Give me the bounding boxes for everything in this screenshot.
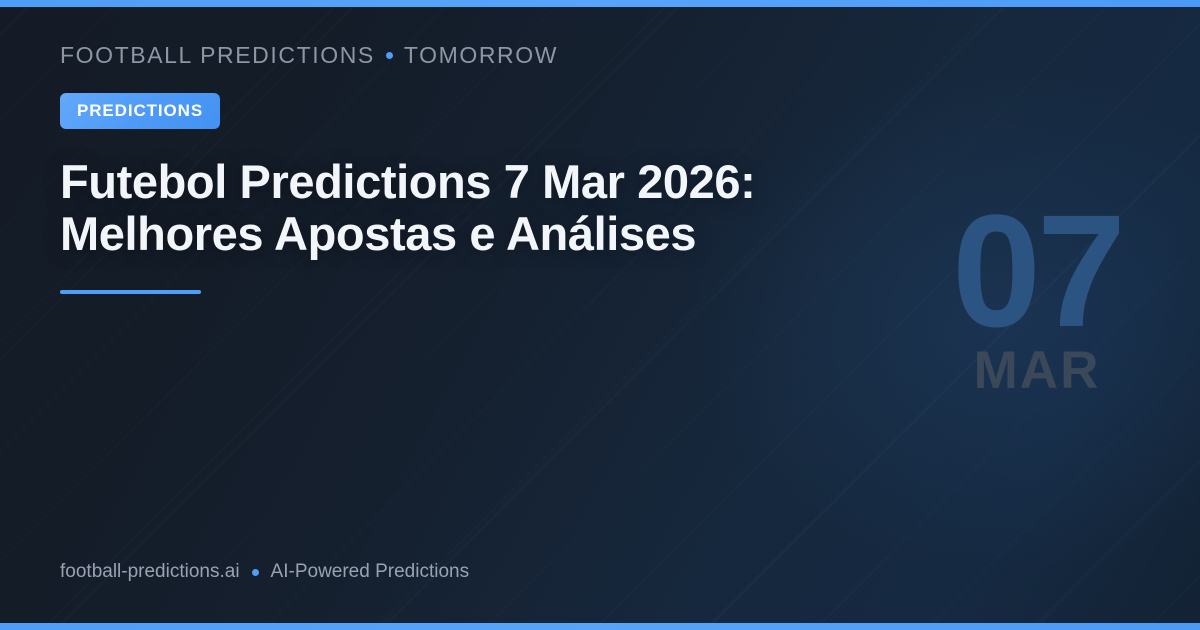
page-title-line-1: Futebol Predictions 7 Mar 2026: (60, 156, 920, 208)
og-share-card: 07 MAR FOOTBALL PREDICTIONS TOMORROW PRE… (0, 0, 1200, 630)
page-title-line-2: Melhores Apostas e Análises (60, 208, 920, 260)
bottom-accent-bar (0, 623, 1200, 630)
status-badge: PREDICTIONS (60, 93, 220, 129)
eyebrow-timeframe-label: TOMORROW (404, 42, 558, 69)
top-accent-bar (0, 0, 1200, 7)
date-month: MAR (932, 343, 1142, 399)
date-day: 07 (932, 196, 1142, 346)
footer-site-name: football-predictions.ai (60, 561, 240, 583)
bullet-dot-icon (386, 52, 393, 59)
bullet-dot-icon (252, 569, 259, 576)
accent-underline (60, 290, 201, 294)
eyebrow-category-label: FOOTBALL PREDICTIONS (60, 42, 375, 69)
footer: football-predictions.ai AI-Powered Predi… (60, 561, 469, 583)
date-badge: 07 MAR (932, 196, 1142, 399)
footer-tagline: AI-Powered Predictions (271, 561, 470, 583)
card-content: FOOTBALL PREDICTIONS TOMORROW PREDICTION… (60, 40, 960, 294)
page-title: Futebol Predictions 7 Mar 2026: Melhores… (60, 156, 920, 260)
eyebrow: FOOTBALL PREDICTIONS TOMORROW (60, 40, 960, 70)
